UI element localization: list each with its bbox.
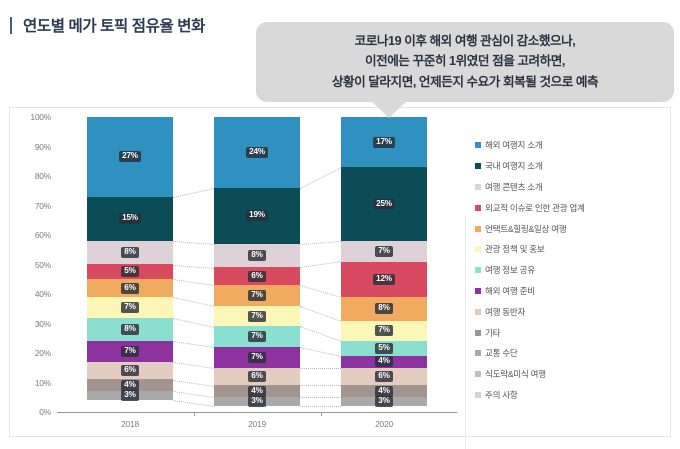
bar-segment[interactable]: 24% xyxy=(214,117,300,188)
legend-item-label: 여행 콘텐츠 소개 xyxy=(485,181,542,193)
bar-segment-label: 25% xyxy=(373,199,395,210)
segment-connector-line xyxy=(173,297,214,307)
insight-callout: 코로나19 이후 해외 여행 관심이 감소했으나, 이전에는 꾸준히 1위였던 … xyxy=(256,22,674,102)
bar-segment[interactable]: 6% xyxy=(214,267,300,285)
bar-segment-label: 3% xyxy=(375,396,392,407)
legend-item-label: 외교적 이슈로 인한 관광 업계 xyxy=(485,202,585,214)
bar-segment-label: 7% xyxy=(375,325,392,336)
bar-segment[interactable]: 6% xyxy=(87,279,173,297)
bar-segment-label: 6% xyxy=(121,283,138,294)
bar-segment[interactable]: 8% xyxy=(87,318,173,342)
segment-connector-line xyxy=(300,262,341,269)
segment-connector-line xyxy=(300,306,341,322)
bar-segment[interactable]: 7% xyxy=(214,285,300,306)
segment-connector-line xyxy=(173,391,214,398)
bar-segment-label: 8% xyxy=(121,247,138,258)
legend-swatch-icon xyxy=(475,288,481,294)
bar-segment[interactable]: 3% xyxy=(341,397,427,406)
y-axis-tick-label: 30% xyxy=(35,319,51,329)
x-axis-tick xyxy=(321,412,322,416)
y-axis-tick-label: 20% xyxy=(35,348,51,358)
legend-divider xyxy=(465,216,466,449)
bar-segment[interactable]: 19% xyxy=(214,188,300,244)
legend-item[interactable]: 기타 xyxy=(475,322,665,343)
legend-item-label: 국내 여행지 소개 xyxy=(485,160,542,172)
legend-item[interactable]: 교통 수단 xyxy=(475,343,665,364)
bar-segment[interactable]: 6% xyxy=(214,368,300,386)
bar-segment[interactable]: 7% xyxy=(214,306,300,327)
segment-connector-line xyxy=(173,380,214,387)
bar-segment[interactable]: 17% xyxy=(341,117,427,167)
legend-swatch-icon xyxy=(475,330,481,336)
bar-segment[interactable]: 7% xyxy=(87,297,173,318)
bar-segment[interactable]: 7% xyxy=(214,326,300,347)
legend-item-label: 언택트&힐링&일상 여행 xyxy=(485,223,566,235)
bar-segment[interactable]: 6% xyxy=(87,362,173,380)
legend-swatch-icon xyxy=(475,226,481,232)
y-axis-tick-label: 40% xyxy=(35,289,51,299)
segment-connector-line xyxy=(300,397,341,398)
legend-item[interactable]: 식도락&미식 여행 xyxy=(475,364,665,385)
bar-segment[interactable]: 7% xyxy=(87,341,173,362)
bar-segment[interactable]: 3% xyxy=(214,397,300,406)
bar-segment-label: 27% xyxy=(119,151,141,162)
bar-segment[interactable]: 8% xyxy=(87,241,173,265)
bar-segment-label: 24% xyxy=(246,147,268,158)
legend-item-label: 관광 정책 및 홍보 xyxy=(485,243,545,255)
plot-area: 0%10%20%30%40%50%60%70%80%90%100%27%15%8… xyxy=(57,117,457,412)
legend-item-label: 식도락&미식 여행 xyxy=(485,368,546,380)
segment-connector-line xyxy=(300,326,341,342)
bar-segment-label: 4% xyxy=(121,380,138,391)
y-axis-tick-label: 90% xyxy=(35,142,51,152)
legend-swatch-icon xyxy=(475,350,481,356)
bar-segment-label: 7% xyxy=(121,346,138,357)
segment-connector-line xyxy=(173,279,214,286)
legend-item-label: 교통 수단 xyxy=(485,347,518,359)
segment-connector-line xyxy=(300,406,341,407)
callout-line-3: 상황이 달라지면, 언제든지 수요가 회복될 것으로 예측 xyxy=(266,72,664,92)
segment-connector-line xyxy=(173,362,214,369)
legend-item-label: 주의 사항 xyxy=(485,389,518,401)
bar-segment[interactable]: 7% xyxy=(341,241,427,262)
legend-item-label: 여행 정보 공유 xyxy=(485,264,535,276)
bar-segment[interactable]: 3% xyxy=(87,391,173,400)
legend-swatch-icon xyxy=(475,205,481,211)
legend-item-label: 해외 여행 준비 xyxy=(485,285,535,297)
bar-segment-label: 5% xyxy=(375,343,392,354)
bar-segment-label: 8% xyxy=(375,303,392,314)
segment-connector-line xyxy=(173,241,214,245)
bar-segment-label: 6% xyxy=(248,371,265,382)
x-axis-tick xyxy=(194,412,195,416)
legend-item[interactable]: 언택트&힐링&일상 여행 xyxy=(475,218,665,239)
bar-segment[interactable]: 8% xyxy=(341,297,427,321)
bar-segment[interactable]: 7% xyxy=(214,347,300,368)
y-axis-tick-label: 100% xyxy=(30,112,51,122)
bar-segment[interactable]: 27% xyxy=(87,117,173,197)
bar-segment[interactable]: 15% xyxy=(87,197,173,241)
bar-segment-label: 8% xyxy=(248,250,265,261)
bar-segment-label: 7% xyxy=(248,331,265,342)
bar-segment[interactable]: 4% xyxy=(341,356,427,368)
segment-connector-line xyxy=(300,285,341,298)
bar-segment-label: 7% xyxy=(121,302,138,313)
legend-item-label: 해외 여행지 소개 xyxy=(485,139,542,151)
legend-item[interactable]: 관광 정책 및 홍보 xyxy=(475,239,665,260)
y-axis-tick-label: 60% xyxy=(35,230,51,240)
y-axis-tick-label: 80% xyxy=(35,171,51,181)
legend-item[interactable]: 해외 여행지 소개 xyxy=(475,135,665,156)
legend-item[interactable]: 여행 정보 공유 xyxy=(475,260,665,281)
bar-segment-label: 17% xyxy=(373,137,395,148)
bar-segment-label: 4% xyxy=(375,356,392,367)
y-axis-tick-label: 50% xyxy=(35,260,51,270)
bar-segment-label: 6% xyxy=(248,271,265,282)
bar-segment[interactable]: 5% xyxy=(87,264,173,279)
bar-segment[interactable]: 12% xyxy=(341,262,427,297)
x-axis-label-2019: 2019 xyxy=(248,419,266,429)
bar-segment-label: 7% xyxy=(248,311,265,322)
legend-item[interactable]: 여행 동반자 xyxy=(475,301,665,322)
legend-item[interactable]: 외교적 이슈로 인한 관광 업계 xyxy=(475,197,665,218)
bar-segment-label: 6% xyxy=(375,371,392,382)
legend-swatch-icon xyxy=(475,142,481,148)
bar-segment-label: 19% xyxy=(246,210,268,221)
legend-item-label: 여행 동반자 xyxy=(485,306,525,318)
bar-segment-label: 4% xyxy=(375,386,392,397)
legend-item[interactable]: 여행 콘텐츠 소개 xyxy=(475,177,665,198)
legend-item-label: 기타 xyxy=(485,327,500,339)
x-axis-label-2020: 2020 xyxy=(375,419,393,429)
legend-item[interactable]: 국내 여행지 소개 xyxy=(475,156,665,177)
bar-segment[interactable]: 8% xyxy=(214,244,300,268)
chart-container: 0%10%20%30%40%50%60%70%80%90%100%27%15%8… xyxy=(9,107,671,437)
legend-swatch-icon xyxy=(475,184,481,190)
slide-canvas: 연도별 메가 토픽 점유율 변화 코로나19 이후 해외 여행 관심이 감소했으… xyxy=(0,0,680,449)
legend-swatch-icon xyxy=(475,267,481,273)
segment-connector-line xyxy=(173,318,214,328)
page-title: 연도별 메가 토픽 점유율 변화 xyxy=(10,14,205,36)
segment-connector-line xyxy=(300,347,341,357)
x-axis-line xyxy=(57,412,457,413)
bar-segment-label: 3% xyxy=(248,396,265,407)
stacked-bar-2020[interactable]: 17%25%7%12%8%7%5%4%6%4%3% xyxy=(341,117,427,412)
chart-legend: 해외 여행지 소개국내 여행지 소개여행 콘텐츠 소개외교적 이슈로 인한 관광… xyxy=(475,135,665,405)
legend-swatch-icon xyxy=(475,371,481,377)
segment-connector-line xyxy=(173,188,214,198)
legend-swatch-icon xyxy=(475,163,481,169)
segment-connector-line xyxy=(173,400,214,407)
bar-segment-label: 7% xyxy=(375,246,392,257)
segment-connector-line xyxy=(173,341,214,348)
legend-swatch-icon xyxy=(475,309,481,315)
callout-line-1: 코로나19 이후 해외 여행 관심이 감소했으나, xyxy=(266,31,664,51)
bar-segment-label: 6% xyxy=(121,365,138,376)
y-axis-tick-label: 10% xyxy=(35,378,51,388)
callout-line-2: 이전에는 꾸준히 1위였던 점을 고려하면, xyxy=(266,51,664,71)
bar-segment-label: 12% xyxy=(373,274,395,285)
segment-connector-line xyxy=(300,241,341,245)
bar-segment-label: 7% xyxy=(248,352,265,363)
stacked-bar-2019[interactable]: 24%19%8%6%7%7%7%7%6%4%3% xyxy=(214,117,300,412)
bar-segment[interactable]: 7% xyxy=(341,321,427,342)
legend-swatch-icon xyxy=(475,392,481,398)
bar-segment[interactable]: 6% xyxy=(341,368,427,386)
bar-segment-label: 4% xyxy=(248,386,265,397)
bar-segment-label: 15% xyxy=(119,213,141,224)
y-axis-tick-label: 0% xyxy=(39,407,51,417)
plot-inner: 0%10%20%30%40%50%60%70%80%90%100%27%15%8… xyxy=(57,117,457,412)
callout-pointer-icon xyxy=(369,99,409,118)
page-title-text: 연도별 메가 토픽 점유율 변화 xyxy=(23,14,205,36)
bar-segment-label: 5% xyxy=(121,266,138,277)
bar-segment-label: 3% xyxy=(121,390,138,401)
legend-item[interactable]: 해외 여행 준비 xyxy=(475,281,665,302)
x-axis-label-2018: 2018 xyxy=(121,419,139,429)
stacked-bar-2018[interactable]: 27%15%8%5%6%7%8%7%6%4%3% xyxy=(87,117,173,412)
segment-connector-line xyxy=(173,265,214,269)
bar-segment-label: 8% xyxy=(121,324,138,335)
y-axis-tick-label: 70% xyxy=(35,201,51,211)
bar-segment[interactable]: 5% xyxy=(341,341,427,356)
segment-connector-line xyxy=(300,385,341,386)
title-accent-bar xyxy=(10,17,12,34)
legend-swatch-icon xyxy=(475,246,481,252)
legend-item[interactable]: 주의 사항 xyxy=(475,385,665,406)
bar-segment-label: 7% xyxy=(248,290,265,301)
bar-segment[interactable]: 25% xyxy=(341,167,427,241)
segment-connector-line xyxy=(300,167,341,189)
segment-connector-line xyxy=(300,368,341,369)
